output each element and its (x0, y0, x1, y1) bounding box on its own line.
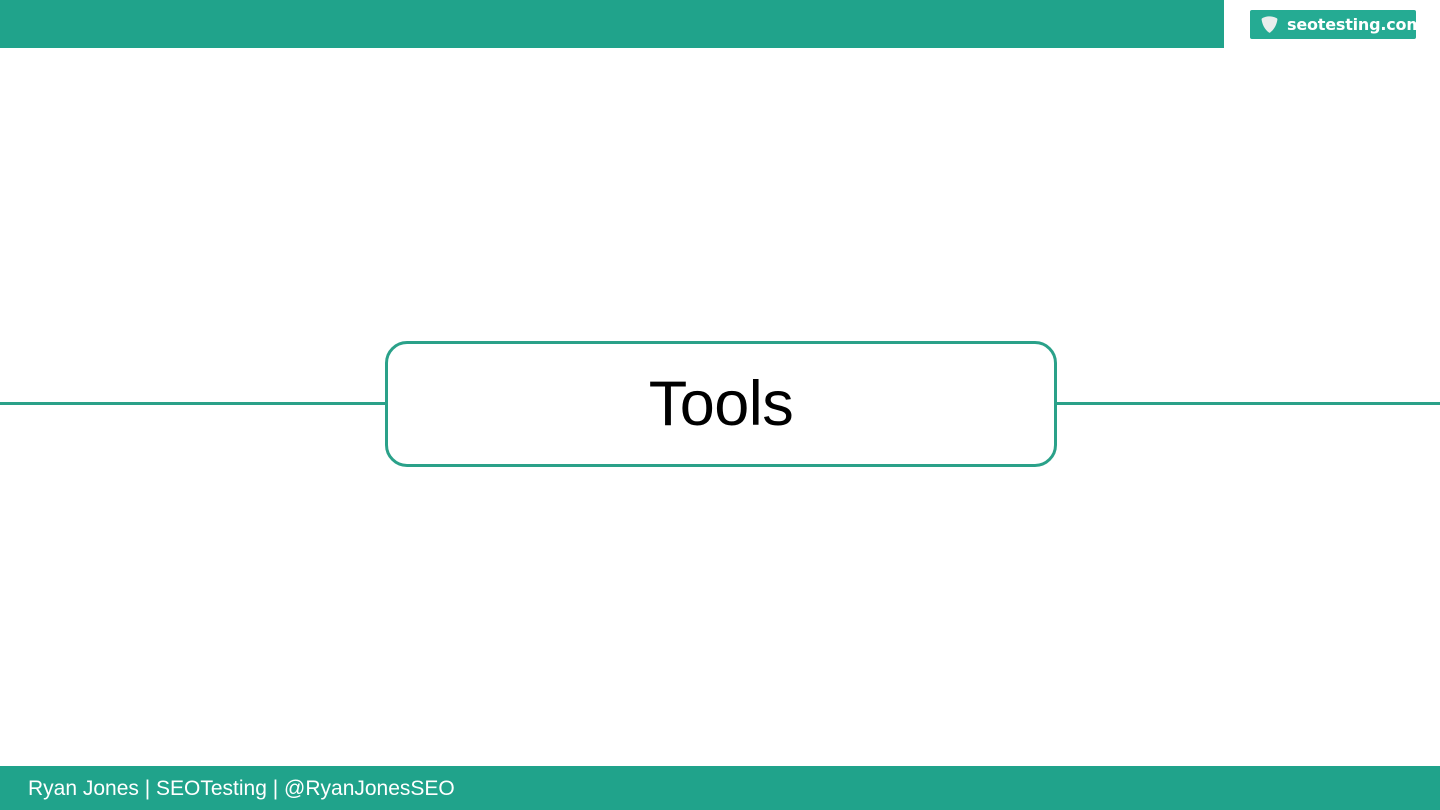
brand-name-label: seotesting.com (1287, 17, 1423, 33)
shield-icon (1260, 15, 1279, 34)
page-title: Tools (649, 373, 794, 436)
presentation-slide: seotesting.com Tools Ryan Jones | SEOTes… (0, 0, 1440, 810)
footer-credit-text: Ryan Jones | SEOTesting | @RyanJonesSEO (28, 778, 455, 799)
top-header-bar (0, 0, 1224, 48)
footer-bar: Ryan Jones | SEOTesting | @RyanJonesSEO (0, 766, 1440, 810)
brand-logo[interactable]: seotesting.com (1250, 10, 1416, 39)
slide-title-box: Tools (385, 341, 1057, 467)
